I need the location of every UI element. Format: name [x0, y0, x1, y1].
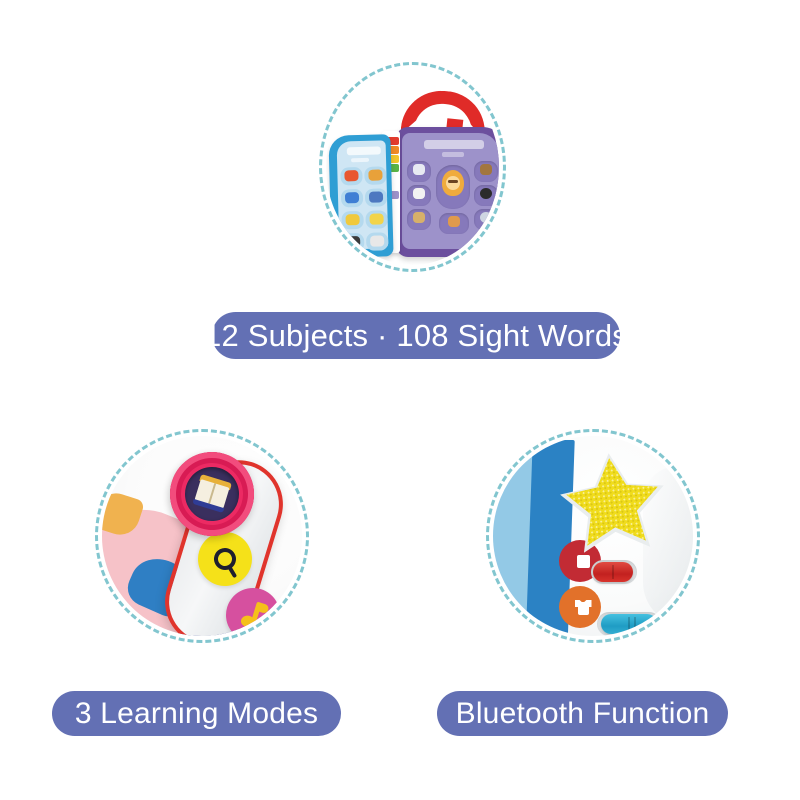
- train-icon: [346, 236, 360, 247]
- shirt-icon: [575, 599, 592, 615]
- bluetooth-controls-photo: [486, 429, 700, 643]
- vehicle-button: [365, 210, 387, 229]
- vehicle-button: [365, 188, 387, 207]
- vehicle-button: [366, 232, 388, 251]
- vehicle-button: [364, 166, 386, 185]
- animals-page-subtitle: [442, 152, 464, 157]
- feature-collage: 12 Subjects · 108 Sight Words: [0, 0, 800, 800]
- panda-icon: [480, 188, 492, 199]
- modes-scene: [102, 436, 302, 636]
- clothes-chip-button: [559, 586, 601, 628]
- vehicle-button: [342, 233, 364, 252]
- giraffe-icon: [413, 212, 425, 223]
- monkey-button: [474, 161, 498, 182]
- caption-bluetooth: Bluetooth Function: [437, 691, 728, 736]
- learning-modes-photo: [95, 429, 309, 643]
- animals-page: [396, 127, 499, 257]
- vehicles-page: [328, 134, 393, 258]
- animals-page-title: [424, 140, 484, 149]
- taxi-icon: [345, 214, 359, 225]
- elephant-button: [407, 161, 431, 182]
- book-photo-clip: [326, 69, 499, 265]
- animals-page-surface: [402, 133, 499, 249]
- slider-nub: [634, 617, 636, 631]
- vehicles-page-subtitle: [351, 158, 369, 162]
- slider-nub: [628, 617, 630, 631]
- volume-slider: [601, 614, 657, 634]
- elephant-icon: [413, 164, 425, 175]
- modes-photo-clip: [102, 436, 302, 636]
- book-scene: [326, 69, 499, 265]
- firetruck-icon: [344, 170, 358, 181]
- caption-learning-modes: 3 Learning Modes: [52, 691, 341, 736]
- lion-button: [436, 165, 470, 209]
- bus-icon: [368, 169, 382, 180]
- zebra-icon: [480, 212, 492, 223]
- panda-button: [474, 185, 498, 206]
- boat-icon: [369, 191, 383, 202]
- vehicle-button: [341, 211, 363, 230]
- sheep-button: [407, 185, 431, 206]
- music-note-icon: [236, 598, 269, 632]
- vehicles-page-surface: [337, 140, 389, 249]
- caption-subjects-text: 12 Subjects · 108 Sight Words: [204, 320, 628, 351]
- caption-bluetooth-text: Bluetooth Function: [456, 699, 710, 729]
- digger-icon: [369, 213, 383, 224]
- bluetooth-scene: [493, 436, 693, 636]
- vehicle-button: [340, 167, 362, 186]
- bluetooth-photo-clip: [493, 436, 693, 636]
- vehicle-button: [341, 189, 363, 208]
- monkey-icon: [480, 164, 492, 175]
- caption-learning-modes-text: 3 Learning Modes: [75, 699, 318, 729]
- interactive-sound-book-photo: [319, 62, 506, 272]
- dial-face: [178, 460, 245, 527]
- vehicles-page-title: [347, 146, 381, 155]
- rocket-icon: [370, 235, 384, 246]
- stop-square-icon: [577, 555, 590, 568]
- airplane-icon: [345, 192, 359, 203]
- tiger-button: [439, 213, 469, 234]
- giraffe-button: [407, 209, 431, 230]
- caption-subjects: 12 Subjects · 108 Sight Words: [212, 312, 620, 359]
- sheep-icon: [413, 188, 425, 199]
- slider-nub: [612, 565, 614, 579]
- power-slider: [593, 562, 633, 582]
- magnifier-icon: [211, 545, 238, 572]
- tiger-icon: [448, 216, 460, 227]
- zebra-button: [474, 209, 498, 230]
- lion-icon: [442, 170, 464, 196]
